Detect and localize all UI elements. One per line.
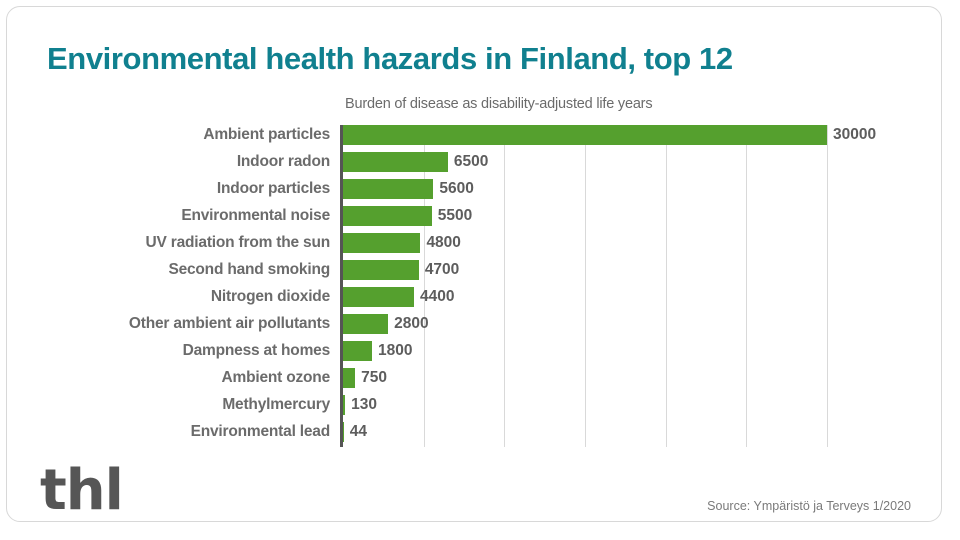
bar-value-label: 6500	[454, 152, 488, 172]
bar[interactable]	[343, 179, 433, 199]
bar[interactable]	[343, 422, 344, 442]
thl-logo: thl	[40, 463, 123, 519]
bar-value-label: 30000	[833, 125, 876, 145]
bar-value-label: 1800	[378, 341, 412, 361]
bar[interactable]	[343, 260, 419, 280]
bar-value-label: 2800	[394, 314, 428, 334]
bar-row[interactable]: Second hand smoking4700	[33, 260, 923, 287]
bar-value-label: 4700	[425, 260, 459, 280]
bar[interactable]	[343, 395, 345, 415]
bar-row[interactable]: Ambient particles30000	[33, 125, 923, 152]
bar-row[interactable]: Methylmercury130	[33, 395, 923, 422]
bar-category-label: UV radiation from the sun	[146, 233, 330, 253]
bar[interactable]	[343, 314, 388, 334]
bar[interactable]	[343, 341, 372, 361]
bar-value-label: 5600	[439, 179, 473, 199]
bar[interactable]	[343, 287, 414, 307]
bar-row[interactable]: Environmental noise5500	[33, 206, 923, 233]
bar-chart-plot-area: Ambient particles30000Indoor radon6500In…	[33, 125, 923, 449]
bar-category-label: Ambient particles	[203, 125, 330, 145]
bar-row[interactable]: Indoor particles5600	[33, 179, 923, 206]
bar-value-label: 750	[361, 368, 387, 388]
bar-category-label: Nitrogen dioxide	[211, 287, 330, 307]
bar-row[interactable]: Dampness at homes1800	[33, 341, 923, 368]
bar-value-label: 44	[350, 422, 367, 442]
bar[interactable]	[343, 152, 448, 172]
bar-category-label: Methylmercury	[222, 395, 330, 415]
bar-row[interactable]: Ambient ozone750	[33, 368, 923, 395]
bar-value-label: 130	[351, 395, 377, 415]
bar-category-label: Environmental noise	[181, 206, 330, 226]
bar-category-label: Other ambient air pollutants	[129, 314, 330, 334]
bar-category-label: Indoor particles	[217, 179, 330, 199]
bar-row[interactable]: Other ambient air pollutants2800	[33, 314, 923, 341]
bar[interactable]	[343, 206, 432, 226]
bar-category-label: Environmental lead	[191, 422, 330, 442]
bar-row[interactable]: Indoor radon6500	[33, 152, 923, 179]
bar-value-label: 5500	[438, 206, 472, 226]
bar-row[interactable]: Nitrogen dioxide4400	[33, 287, 923, 314]
chart-card: Environmental health hazards in Finland,…	[6, 6, 942, 522]
bar-row[interactable]: UV radiation from the sun4800	[33, 233, 923, 260]
bar-row[interactable]: Environmental lead44	[33, 422, 923, 449]
bar[interactable]	[343, 125, 827, 145]
chart-subtitle: Burden of disease as disability-adjusted…	[345, 96, 652, 112]
bar[interactable]	[343, 233, 420, 253]
bar-category-label: Dampness at homes	[183, 341, 330, 361]
bar-value-label: 4400	[420, 287, 454, 307]
bar[interactable]	[343, 368, 355, 388]
bar-category-label: Indoor radon	[237, 152, 330, 172]
bar-category-label: Second hand smoking	[168, 260, 330, 280]
page-title: Environmental health hazards in Finland,…	[47, 41, 733, 77]
source-note: Source: Ympäristö ja Terveys 1/2020	[707, 499, 911, 513]
bar-value-label: 4800	[426, 233, 460, 253]
bar-category-label: Ambient ozone	[222, 368, 330, 388]
